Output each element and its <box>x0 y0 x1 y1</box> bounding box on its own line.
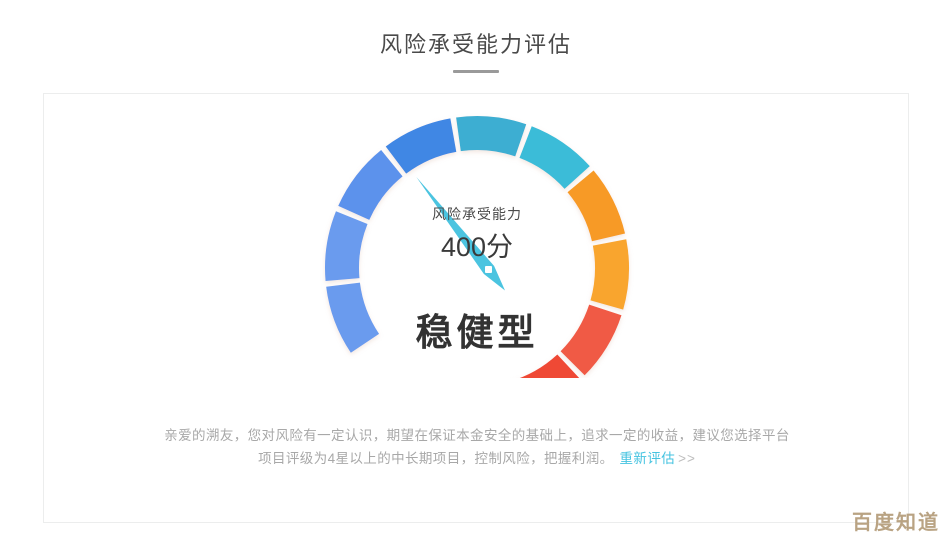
assessment-result-card: 风险承受能力 400分 稳健型 亲爱的溯友，您对风险有一定认识，期望在保证本金安… <box>43 93 909 523</box>
description-line-2: 项目评级为4星以上的中长期项目，控制风险，把握利润。 <box>258 451 613 466</box>
gauge-segment-7 <box>568 170 626 241</box>
gauge-segment-5 <box>456 116 526 156</box>
gauge-segment-4 <box>386 118 457 173</box>
gauge-score-value: 400分 <box>44 234 910 261</box>
reassess-arrows-icon[interactable]: >> <box>678 451 696 466</box>
risk-type-label: 稳健型 <box>44 314 910 351</box>
description-line-1: 亲爱的溯友，您对风险有一定认识，期望在保证本金安全的基础上，追求一定的收益，建议… <box>44 424 910 447</box>
result-description: 亲爱的溯友，您对风险有一定认识，期望在保证本金安全的基础上，追求一定的收益，建议… <box>44 424 910 470</box>
page-title: 风险承受能力评估 <box>0 0 952 56</box>
gauge-segment-6 <box>519 126 589 189</box>
description-line-2-wrap: 项目评级为4星以上的中长期项目，控制风险，把握利润。重新评估>> <box>44 447 910 470</box>
title-underline-rule <box>453 70 499 73</box>
gauge-center-caption: 风险承受能力 <box>44 207 910 221</box>
reassess-link[interactable]: 重新评估 <box>620 451 676 466</box>
baidu-zhidao-watermark: 百度知道 <box>852 513 940 533</box>
risk-gauge: 风险承受能力 400分 稳健型 <box>44 94 910 404</box>
gauge-needle-hub <box>485 266 492 273</box>
